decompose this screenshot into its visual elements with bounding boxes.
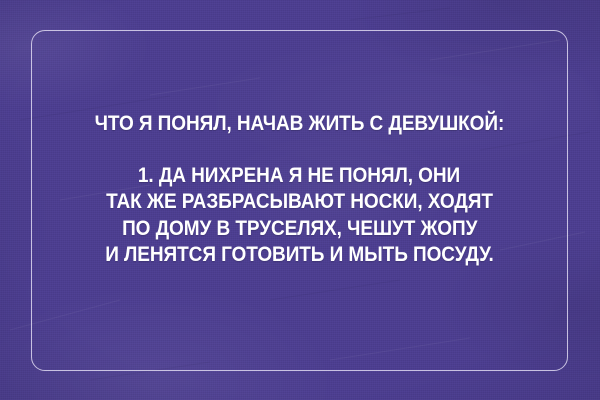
quote-body-line: ТАК ЖЕ РАЗБРАСЫВАЮТ НОСКИ, ХОДЯТ xyxy=(106,188,493,215)
quote-body-line: ПО ДОМУ В ТРУСЕЛЯХ, ЧЕШУТ ЖОПУ xyxy=(122,215,477,242)
quote-body-line: И ЛЕНЯТСЯ ГОТОВИТЬ И МЫТЬ ПОСУДУ. xyxy=(105,241,494,268)
quote-content: ЧТО Я ПОНЯЛ, НАЧАВ ЖИТЬ С ДЕВУШКОЙ: 1. Д… xyxy=(31,30,568,371)
quote-card: ЧТО Я ПОНЯЛ, НАЧАВ ЖИТЬ С ДЕВУШКОЙ: 1. Д… xyxy=(0,0,600,400)
quote-body-line: 1. ДА НИХРЕНА Я НЕ ПОНЯЛ, ОНИ xyxy=(138,162,460,189)
quote-heading: ЧТО Я ПОНЯЛ, НАЧАВ ЖИТЬ С ДЕВУШКОЙ: xyxy=(95,112,505,136)
quote-body: 1. ДА НИХРЕНА Я НЕ ПОНЯЛ, ОНИ ТАК ЖЕ РАЗ… xyxy=(80,162,519,268)
